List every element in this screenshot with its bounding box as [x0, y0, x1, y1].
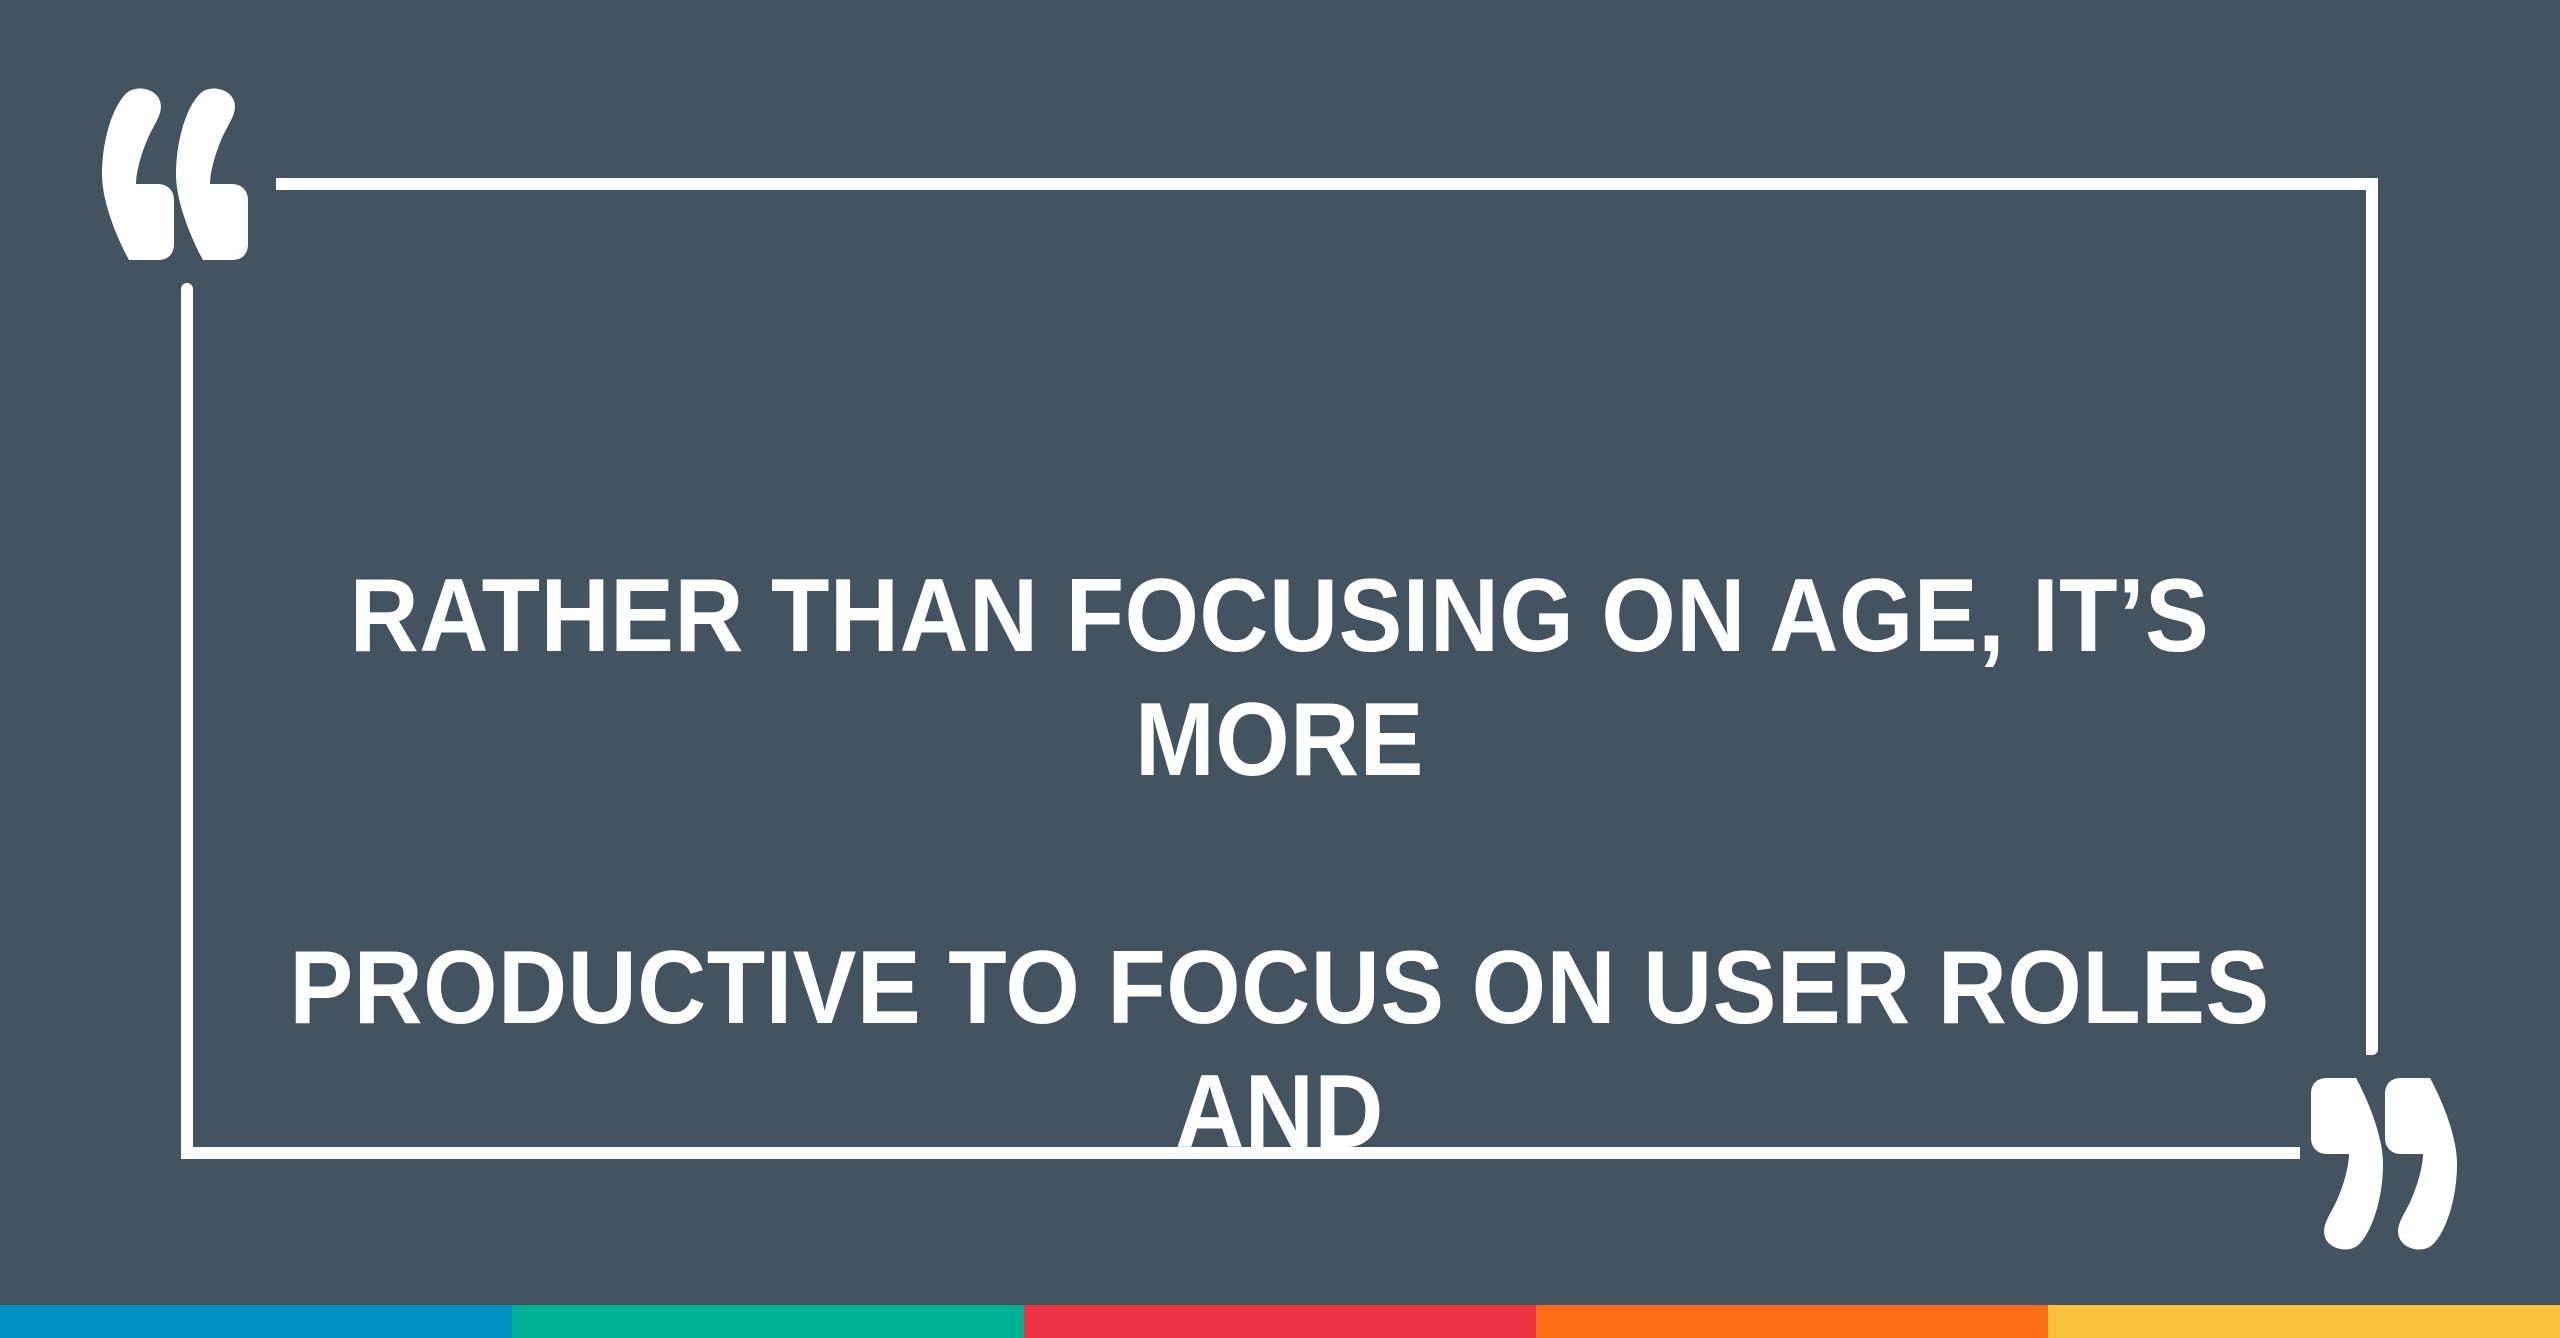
color-swatch-yellow	[2048, 1305, 2560, 1338]
frame-line-right	[2366, 178, 2378, 1055]
quote-text: RATHER THAN FOCUSING ON AGE, IT’S MORE P…	[280, 430, 2279, 1338]
opening-quote-icon	[98, 88, 248, 260]
color-swatch-red	[1024, 1305, 1536, 1338]
quote-slide: RATHER THAN FOCUSING ON AGE, IT’S MORE P…	[0, 0, 2560, 1338]
color-swatch-blue	[0, 1305, 512, 1338]
accent-color-bar	[0, 1305, 2560, 1338]
frame-corner-bottom-left	[181, 1131, 193, 1159]
quote-line-2: PRODUCTIVE TO FOCUS ON USER ROLES AND	[280, 926, 2279, 1174]
frame-line-top	[276, 178, 2378, 190]
color-swatch-orange	[1536, 1305, 2048, 1338]
color-swatch-teal	[512, 1305, 1024, 1338]
quote-line-1: RATHER THAN FOCUSING ON AGE, IT’S MORE	[280, 554, 2279, 802]
closing-quote-icon	[2311, 1078, 2461, 1250]
frame-line-left	[181, 283, 193, 1159]
